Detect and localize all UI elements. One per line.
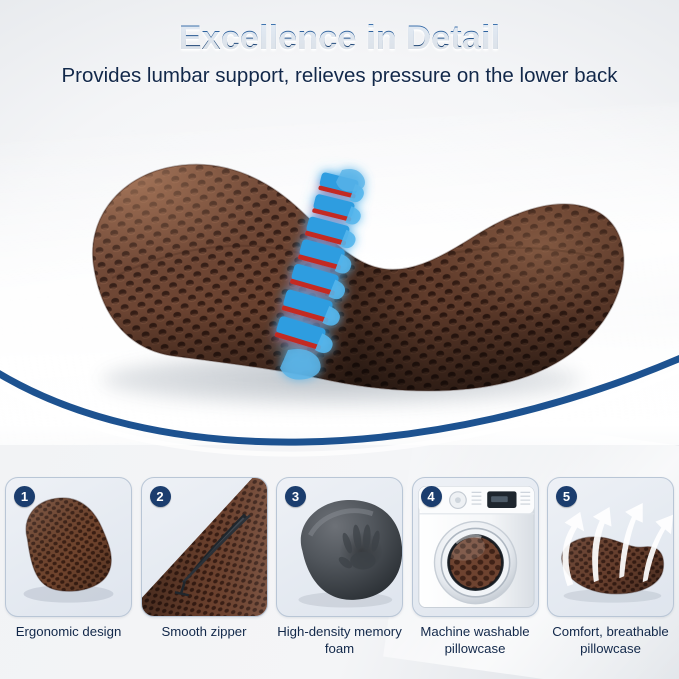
- product-infographic: Excellence in Detail Provides lumbar sup…: [0, 0, 679, 679]
- feature-panel-1[interactable]: 1: [5, 477, 132, 617]
- header: Excellence in Detail Provides lumbar sup…: [0, 20, 679, 89]
- feature-caption-1: Ergonomic design: [5, 624, 132, 657]
- feature-panel-3[interactable]: 3: [276, 477, 403, 617]
- feature-panel-2[interactable]: 2: [141, 477, 268, 617]
- panel-badge-4: 4: [421, 486, 442, 507]
- panel-badge-2: 2: [150, 486, 171, 507]
- feature-captions: Ergonomic design Smooth zipper High-dens…: [5, 624, 674, 657]
- panel-badge-1: 1: [14, 486, 35, 507]
- feature-panel-5[interactable]: 5: [547, 477, 674, 617]
- feature-panel-4[interactable]: 4: [412, 477, 539, 617]
- page-title: Excellence in Detail: [179, 20, 501, 57]
- feature-caption-5: Comfort, breathable pillowcase: [547, 624, 674, 657]
- panel-badge-5: 5: [556, 486, 577, 507]
- page-subtitle: Provides lumbar support, relieves pressu…: [0, 64, 679, 89]
- feature-caption-4: Machine washable pillowcase: [412, 624, 539, 657]
- panel-badge-3: 3: [285, 486, 306, 507]
- feature-caption-3: High-density memory foam: [276, 624, 403, 657]
- feature-panels: 1: [5, 477, 674, 617]
- feature-caption-2: Smooth zipper: [141, 624, 268, 657]
- page-title-wrapper: Excellence in Detail: [179, 20, 501, 57]
- curved-divider: [0, 340, 679, 470]
